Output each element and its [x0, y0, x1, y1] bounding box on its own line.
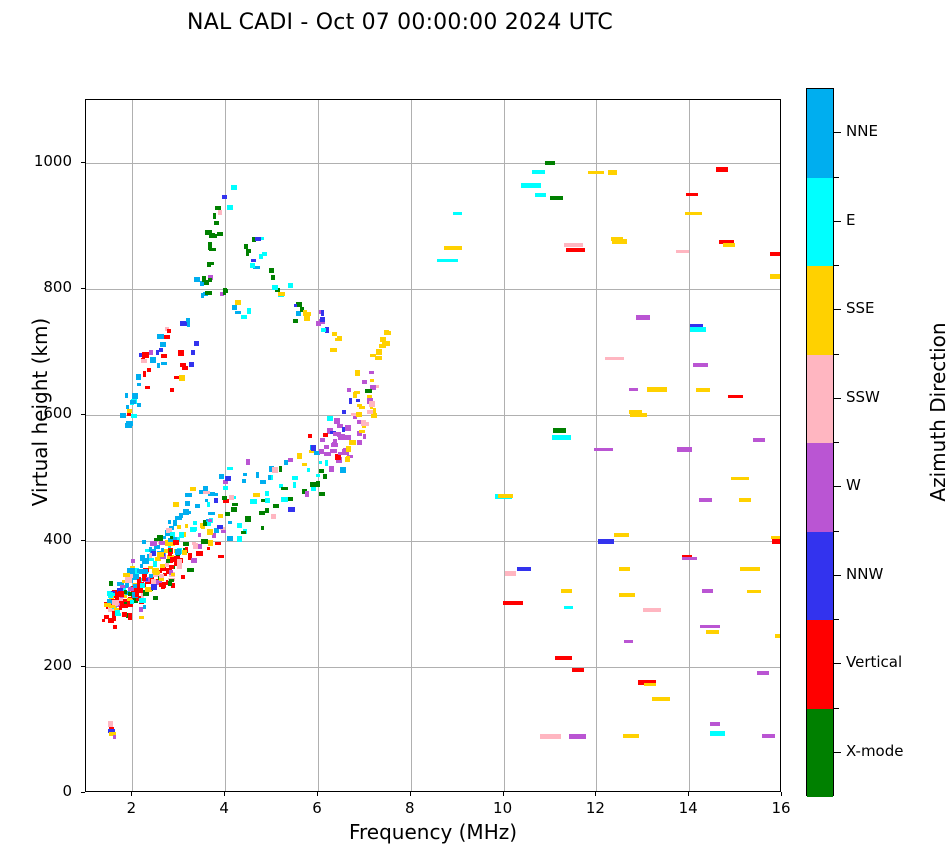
- echo-mark: [160, 564, 165, 568]
- gridline-horizontal: [86, 415, 780, 416]
- echo-mark: [608, 170, 617, 175]
- echo-mark: [173, 540, 179, 545]
- echo-mark: [253, 493, 260, 497]
- echo-mark: [338, 452, 345, 455]
- echo-mark: [140, 583, 145, 588]
- echo-mark: [214, 221, 219, 225]
- echo-mark: [643, 608, 661, 612]
- echo-mark: [203, 486, 208, 491]
- echo-mark: [271, 514, 276, 519]
- echo-mark: [594, 448, 613, 451]
- gridline-horizontal: [86, 163, 780, 164]
- echo-mark: [437, 259, 458, 262]
- echo-mark: [186, 318, 190, 322]
- colorbar-tick: [834, 486, 841, 487]
- echo-mark: [229, 495, 234, 500]
- echo-mark: [762, 734, 775, 738]
- colorbar[interactable]: [806, 88, 834, 796]
- echo-mark: [130, 400, 136, 404]
- colorbar-segment-sse[interactable]: [807, 266, 833, 355]
- echo-mark: [320, 317, 325, 322]
- echo-mark: [208, 540, 213, 546]
- echo-mark: [135, 591, 139, 597]
- echo-mark: [198, 544, 202, 549]
- echo-mark: [246, 250, 249, 256]
- echo-mark: [171, 573, 175, 576]
- echo-mark: [178, 350, 184, 356]
- echo-mark: [265, 508, 269, 513]
- colorbar-tick: [834, 752, 841, 753]
- x-tick-label: 8: [380, 799, 440, 817]
- echo-mark: [130, 600, 134, 604]
- echo-mark: [177, 525, 181, 529]
- echo-mark: [652, 697, 670, 701]
- echo-mark: [250, 263, 255, 268]
- echo-mark: [284, 460, 288, 465]
- echo-mark: [319, 461, 322, 464]
- echo-mark: [294, 304, 297, 307]
- colorbar-tick: [834, 575, 841, 576]
- echo-mark: [357, 440, 362, 445]
- echo-mark: [346, 456, 350, 461]
- echo-mark: [685, 212, 702, 215]
- echo-mark: [330, 449, 337, 453]
- x-tick-label: 4: [194, 799, 254, 817]
- echo-mark: [191, 527, 197, 531]
- echo-mark: [161, 354, 167, 358]
- echo-mark: [517, 567, 531, 571]
- echo-mark: [702, 589, 713, 593]
- echo-mark: [308, 434, 312, 438]
- echo-mark: [269, 268, 274, 273]
- echo-mark: [153, 596, 158, 600]
- echo-mark: [453, 212, 462, 215]
- echo-mark: [159, 541, 165, 545]
- colorbar-label-nnw: NNW: [846, 565, 883, 583]
- echo-mark: [305, 491, 309, 497]
- echo-mark: [572, 668, 584, 672]
- y-tick: [81, 162, 85, 163]
- echo-mark: [728, 395, 743, 398]
- colorbar-tick: [834, 663, 841, 664]
- echo-mark: [179, 532, 184, 538]
- echo-mark: [288, 507, 295, 512]
- echo-mark: [376, 349, 382, 355]
- echo-mark: [193, 521, 197, 525]
- echo-mark: [265, 498, 270, 503]
- echo-mark: [288, 283, 293, 288]
- echo-mark: [113, 735, 116, 739]
- echo-mark: [143, 605, 146, 609]
- colorbar-segment-w[interactable]: [807, 443, 833, 532]
- echo-mark: [207, 502, 210, 507]
- echo-mark: [150, 357, 156, 363]
- echo-mark: [311, 487, 316, 491]
- echo-mark: [245, 516, 251, 522]
- echo-mark: [605, 357, 624, 360]
- echo-mark: [164, 335, 170, 339]
- echo-mark: [208, 512, 215, 515]
- echo-mark: [356, 412, 362, 417]
- echo-mark: [170, 557, 175, 562]
- echo-mark: [246, 459, 250, 465]
- echo-mark: [292, 476, 298, 480]
- echo-mark: [170, 388, 174, 392]
- plot-area: [85, 99, 781, 792]
- echo-mark: [217, 525, 223, 529]
- echo-mark: [173, 502, 179, 507]
- echo-mark: [182, 366, 188, 370]
- echo-mark: [261, 526, 264, 530]
- echo-mark: [191, 350, 195, 355]
- echo-mark: [214, 498, 218, 503]
- echo-mark: [227, 467, 233, 470]
- echo-mark: [319, 449, 324, 454]
- echo-mark: [349, 440, 356, 445]
- echo-mark: [739, 498, 751, 502]
- echo-mark: [221, 530, 226, 533]
- echo-mark: [535, 193, 546, 197]
- colorbar-label-sse: SSE: [846, 299, 875, 317]
- echo-mark: [225, 476, 231, 481]
- echo-mark: [564, 606, 573, 609]
- echo-mark: [182, 550, 187, 555]
- echo-mark: [102, 619, 105, 622]
- echo-mark: [265, 491, 269, 496]
- echo-mark: [227, 536, 233, 541]
- colorbar-segment-nnw[interactable]: [807, 532, 833, 621]
- echo-mark: [133, 574, 139, 579]
- echo-mark: [185, 524, 188, 528]
- echo-mark: [382, 340, 385, 345]
- echo-mark: [545, 161, 555, 165]
- echo-mark: [347, 388, 351, 392]
- echo-mark: [215, 206, 221, 210]
- echo-mark: [365, 389, 372, 393]
- echo-mark: [183, 509, 189, 515]
- echo-mark: [141, 359, 147, 363]
- echo-mark: [142, 352, 149, 358]
- echo-mark: [223, 499, 229, 503]
- echo-mark: [159, 583, 165, 587]
- colorbar-boundary-tick: [834, 531, 839, 532]
- echo-mark: [142, 569, 148, 574]
- echo-mark: [208, 519, 212, 522]
- x-tick: [410, 792, 411, 796]
- x-tick-label: 12: [565, 799, 625, 817]
- echo-mark: [185, 493, 192, 497]
- echo-mark: [202, 276, 206, 282]
- echo-mark: [271, 275, 275, 280]
- echo-mark: [362, 380, 367, 384]
- echo-mark: [223, 291, 226, 295]
- echo-mark: [151, 551, 156, 556]
- echo-mark: [771, 536, 781, 539]
- x-tick: [224, 792, 225, 796]
- colorbar-label-ssw: SSW: [846, 388, 880, 406]
- ionogram-figure: NAL CADI - Oct 07 00:00:00 2024 UTC 2468…: [0, 0, 951, 856]
- echo-mark: [552, 435, 571, 440]
- echo-mark: [272, 467, 278, 473]
- echo-mark: [196, 551, 203, 556]
- echo-mark: [619, 567, 630, 571]
- echo-mark: [120, 585, 125, 588]
- x-tick: [688, 792, 689, 796]
- echo-mark: [329, 466, 334, 472]
- echo-mark: [108, 592, 113, 598]
- x-tick: [595, 792, 596, 796]
- echo-mark: [624, 640, 633, 643]
- echo-mark: [194, 341, 199, 346]
- echo-mark: [136, 374, 141, 380]
- echo-mark: [179, 375, 185, 381]
- colorbar-boundary-tick: [834, 265, 839, 266]
- echo-mark: [225, 512, 230, 516]
- echo-mark: [223, 486, 228, 490]
- echo-mark: [126, 421, 133, 426]
- echo-mark: [281, 487, 288, 490]
- echo-mark: [215, 542, 221, 545]
- echo-mark: [550, 196, 563, 200]
- echo-mark: [143, 371, 146, 377]
- echo-mark: [342, 410, 346, 414]
- colorbar-boundary-tick: [834, 442, 839, 443]
- echo-mark: [168, 520, 171, 524]
- colorbar-segment-e[interactable]: [807, 178, 833, 267]
- echo-mark: [185, 501, 190, 506]
- echo-mark: [157, 334, 164, 339]
- echo-mark: [191, 558, 197, 563]
- echo-mark: [647, 387, 667, 392]
- x-tick: [131, 792, 132, 796]
- echo-mark: [159, 348, 163, 352]
- echo-mark: [346, 446, 351, 452]
- x-tick-label: 2: [101, 799, 161, 817]
- echo-mark: [566, 248, 585, 252]
- echo-mark: [340, 435, 345, 438]
- echo-mark: [124, 590, 127, 594]
- echo-mark: [167, 329, 171, 333]
- echo-mark: [150, 541, 157, 546]
- x-tick-label: 6: [287, 799, 347, 817]
- echo-mark: [241, 531, 246, 534]
- echo-mark: [228, 521, 232, 524]
- echo-mark: [710, 722, 720, 726]
- echo-mark: [278, 292, 285, 296]
- echo-mark: [677, 447, 692, 452]
- echo-mark: [218, 210, 222, 215]
- echo-mark: [332, 442, 335, 446]
- echo-mark: [770, 274, 781, 279]
- echo-mark: [770, 252, 780, 256]
- echo-mark: [157, 552, 164, 557]
- echo-mark: [619, 593, 635, 597]
- echo-mark: [139, 598, 146, 603]
- echo-mark: [166, 559, 170, 563]
- y-tick: [81, 414, 85, 415]
- echo-mark: [151, 584, 157, 590]
- echo-mark: [130, 568, 135, 574]
- colorbar-boundary-tick: [834, 619, 839, 620]
- colorbar-segment-nne[interactable]: [807, 89, 833, 178]
- echo-mark: [293, 319, 298, 323]
- echo-mark: [149, 553, 152, 558]
- colorbar-boundary-tick: [834, 354, 839, 355]
- echo-mark: [598, 539, 614, 544]
- echo-mark: [384, 330, 389, 333]
- echo-mark: [113, 625, 117, 629]
- colorbar-boundary-tick: [834, 708, 839, 709]
- echo-mark: [337, 336, 342, 341]
- echo-mark: [369, 401, 375, 407]
- echo-mark: [361, 420, 366, 426]
- echo-mark: [303, 310, 307, 316]
- echo-mark: [161, 362, 167, 365]
- echo-mark: [369, 371, 374, 374]
- echo-mark: [272, 285, 278, 290]
- echo-mark: [330, 348, 337, 352]
- x-tick-label: 14: [658, 799, 718, 817]
- echo-mark: [208, 278, 212, 282]
- echo-mark: [237, 536, 242, 542]
- echo-mark: [175, 549, 181, 555]
- echo-mark: [644, 683, 656, 686]
- echo-mark: [147, 368, 151, 372]
- echo-mark: [160, 342, 166, 347]
- y-tick-label: 0: [0, 782, 72, 800]
- gridline-vertical: [411, 100, 412, 791]
- echo-mark: [696, 388, 710, 392]
- echo-mark: [192, 542, 196, 545]
- echo-mark: [113, 615, 116, 621]
- echo-mark: [693, 363, 708, 367]
- y-tick: [81, 792, 85, 793]
- echo-mark: [293, 482, 296, 488]
- echo-mark: [195, 504, 200, 508]
- echo-mark: [142, 540, 146, 544]
- echo-mark: [187, 568, 194, 572]
- echo-mark: [332, 332, 337, 336]
- x-tick: [781, 792, 782, 796]
- echo-mark: [131, 559, 135, 563]
- echo-mark: [757, 671, 769, 675]
- echo-mark: [203, 491, 210, 494]
- echo-mark: [127, 409, 132, 413]
- echo-mark: [370, 379, 374, 382]
- echo-mark: [630, 413, 647, 417]
- echo-mark: [231, 185, 237, 190]
- x-axis-title: Frequency (MHz): [85, 820, 781, 844]
- y-tick: [81, 666, 85, 667]
- echo-mark: [686, 193, 698, 196]
- echo-mark: [731, 477, 749, 480]
- echo-mark: [115, 613, 121, 616]
- echo-mark: [227, 205, 233, 210]
- echo-mark: [170, 536, 173, 539]
- gridline-horizontal: [86, 541, 780, 542]
- y-axis-title: Virtual height (km): [28, 242, 52, 582]
- colorbar-label-x-mode: X-mode: [846, 742, 903, 760]
- echo-mark: [636, 315, 650, 320]
- echo-mark: [153, 561, 157, 567]
- echo-mark: [324, 445, 329, 449]
- echo-mark: [181, 575, 185, 579]
- echo-mark: [323, 433, 328, 437]
- echo-mark: [287, 497, 293, 501]
- y-tick: [81, 288, 85, 289]
- y-tick-label: 1000: [0, 152, 72, 170]
- colorbar-segment-vertical[interactable]: [807, 620, 833, 709]
- colorbar-segment-ssw[interactable]: [807, 355, 833, 444]
- echo-mark: [359, 430, 365, 433]
- echo-mark: [188, 553, 192, 557]
- echo-mark: [323, 474, 327, 479]
- echo-mark: [540, 734, 561, 739]
- echo-mark: [706, 630, 719, 634]
- echo-mark: [218, 514, 223, 518]
- echo-mark: [131, 414, 137, 418]
- echo-mark: [561, 589, 572, 593]
- echo-mark: [139, 607, 143, 612]
- echo-mark: [222, 195, 227, 199]
- echo-mark: [564, 243, 583, 247]
- echo-mark: [321, 310, 324, 316]
- echo-mark: [207, 547, 210, 550]
- page-title: NAL CADI - Oct 07 00:00:00 2024 UTC: [0, 10, 800, 35]
- echo-mark: [716, 167, 728, 172]
- colorbar-label-vertical: Vertical: [846, 653, 902, 671]
- echo-mark: [444, 246, 462, 250]
- echo-mark: [319, 492, 325, 496]
- colorbar-label-w: W: [846, 476, 861, 494]
- echo-mark: [612, 239, 627, 244]
- echo-mark: [137, 403, 141, 407]
- echo-mark: [140, 555, 145, 561]
- echo-mark: [351, 413, 356, 416]
- echo-mark: [273, 504, 279, 508]
- echo-mark: [152, 568, 159, 573]
- echo-mark: [145, 386, 150, 389]
- colorbar-tick: [834, 398, 841, 399]
- gridline-horizontal: [86, 289, 780, 290]
- echo-mark: [109, 581, 113, 586]
- echo-mark: [128, 615, 132, 620]
- echo-mark: [217, 232, 223, 236]
- gridline-vertical: [132, 100, 133, 791]
- colorbar-label-e: E: [846, 211, 855, 229]
- echo-mark: [307, 468, 310, 472]
- colorbar-label-nne: NNE: [846, 122, 878, 140]
- echo-mark: [243, 473, 247, 476]
- echo-mark: [169, 549, 172, 552]
- colorbar-title: Azimuth Direction: [926, 242, 950, 582]
- echo-mark: [169, 565, 174, 569]
- echo-mark: [207, 262, 211, 267]
- echo-mark: [198, 533, 201, 537]
- echo-mark: [353, 392, 357, 398]
- echo-mark: [268, 475, 271, 480]
- echo-mark: [676, 250, 689, 253]
- echo-mark: [327, 416, 333, 421]
- echo-mark: [190, 487, 196, 491]
- echo-mark: [614, 533, 629, 537]
- echo-mark: [125, 577, 132, 583]
- echo-mark: [297, 453, 302, 459]
- colorbar-segment-x-mode[interactable]: [807, 709, 833, 798]
- echo-mark: [385, 341, 390, 346]
- echo-mark: [316, 474, 320, 477]
- echo-mark: [232, 503, 238, 506]
